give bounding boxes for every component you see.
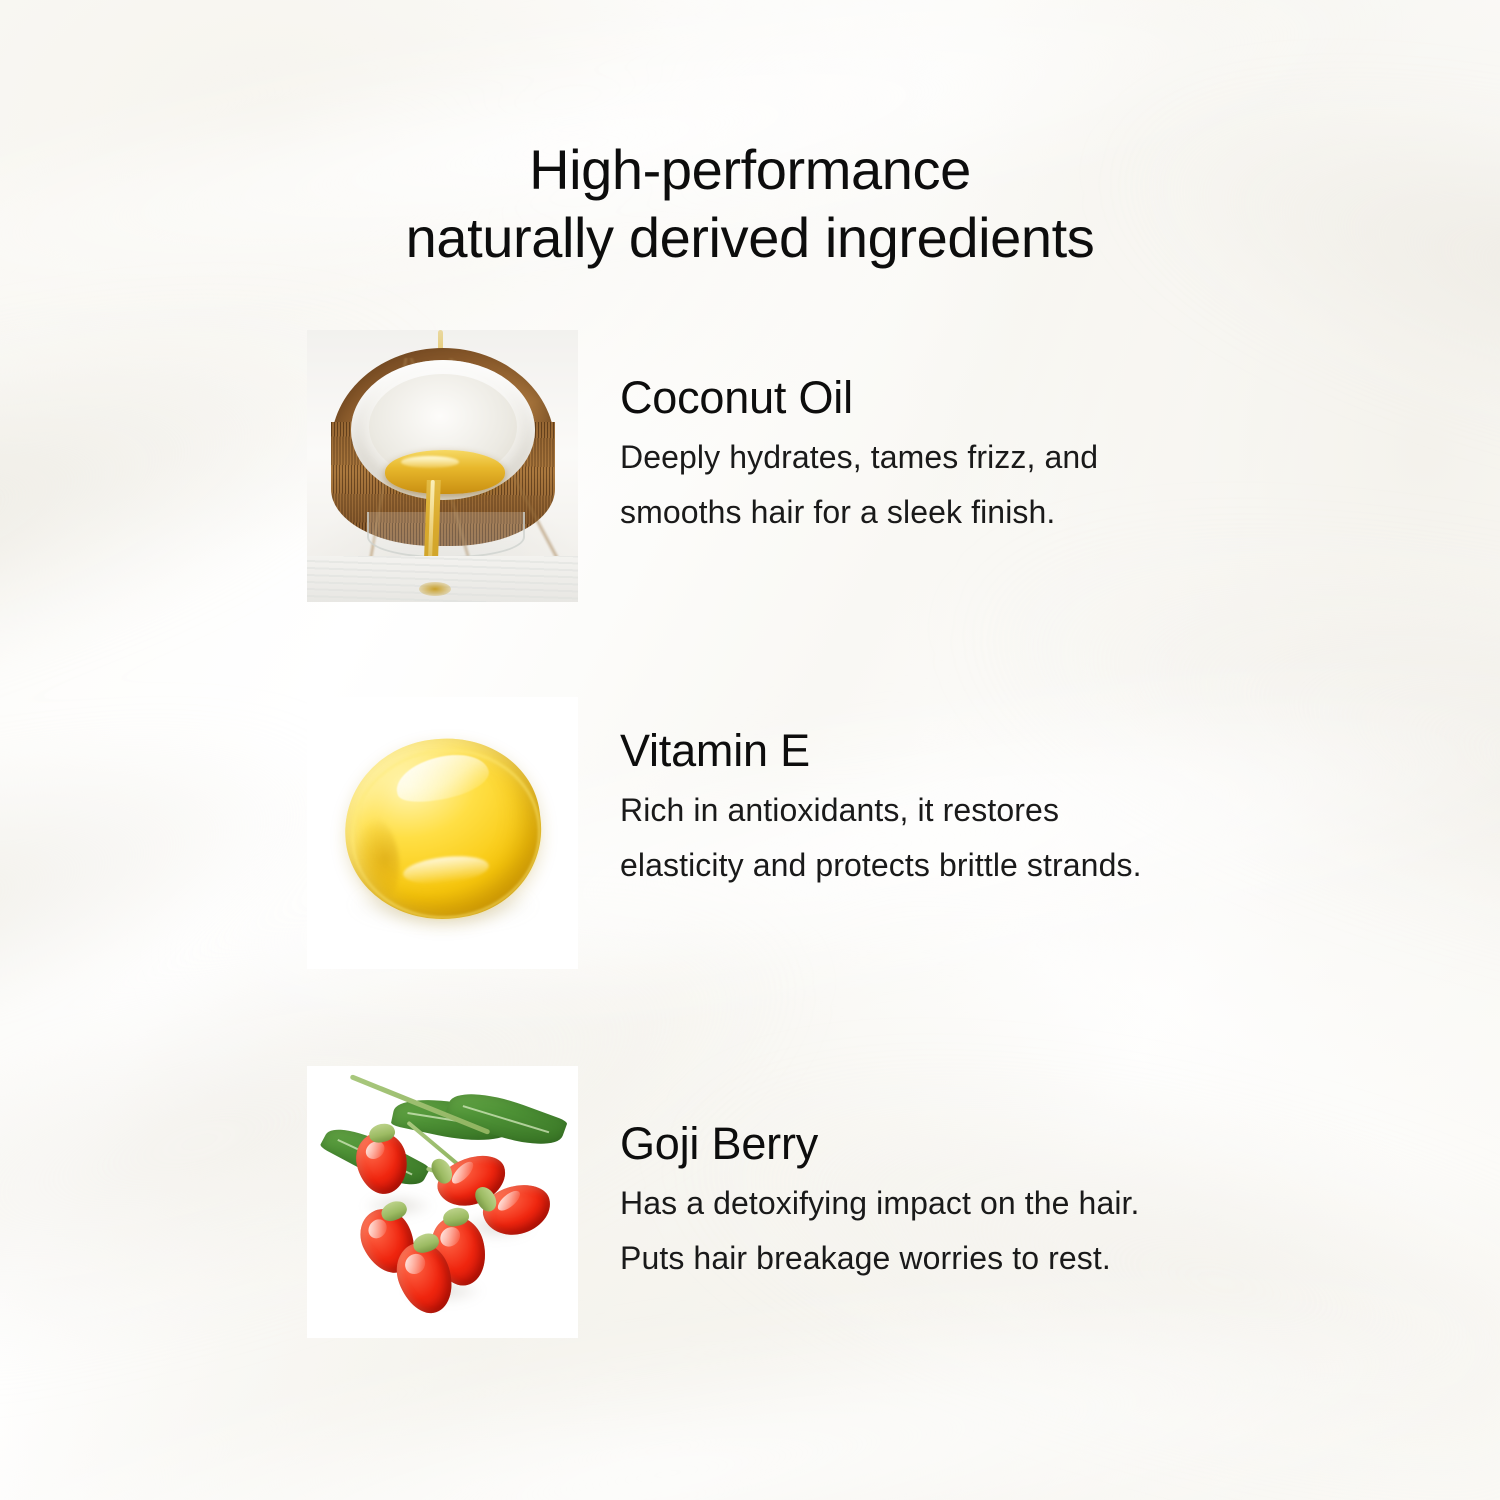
ingredient-copy-goji-berry: Goji Berry Has a detoxifying impact on t…	[620, 1118, 1280, 1286]
ingredient-copy-vitamin-e: Vitamin E Rich in antioxidants, it resto…	[620, 725, 1280, 893]
ingredient-description-coconut-oil: Deeply hydrates, tames frizz, and smooth…	[620, 430, 1280, 540]
ingredient-row-vitamin-e: Vitamin E Rich in antioxidants, it resto…	[307, 697, 1307, 972]
ingredient-name-coconut-oil: Coconut Oil	[620, 372, 1280, 424]
coconut-oil-pool-highlight	[401, 456, 459, 468]
glass-vessel	[367, 512, 525, 558]
goji-berry-illustration	[307, 1066, 578, 1338]
infographic-canvas: High-performance naturally derived ingre…	[0, 0, 1500, 1500]
ingredient-row-goji-berry: Goji Berry Has a detoxifying impact on t…	[307, 1066, 1307, 1341]
ingredient-description-goji-berry: Has a detoxifying impact on the hair. Pu…	[620, 1176, 1280, 1286]
coconut-oil-illustration	[307, 330, 578, 602]
oil-splash	[419, 582, 451, 596]
vitamin-e-capsule-illustration	[307, 697, 578, 969]
ingredient-name-vitamin-e: Vitamin E	[620, 725, 1280, 777]
ingredient-name-goji-berry: Goji Berry	[620, 1118, 1280, 1170]
page-title-line-2: naturally derived ingredients	[0, 204, 1500, 272]
ingredient-image-coconut-oil	[307, 330, 578, 602]
ingredient-copy-coconut-oil: Coconut Oil Deeply hydrates, tames frizz…	[620, 372, 1280, 540]
ingredient-image-vitamin-e	[307, 697, 578, 969]
page-title-line-1: High-performance	[0, 136, 1500, 204]
ingredient-row-coconut-oil: Coconut Oil Deeply hydrates, tames frizz…	[307, 330, 1307, 605]
ingredient-image-goji-berry	[307, 1066, 578, 1338]
ingredient-description-vitamin-e: Rich in antioxidants, it restores elasti…	[620, 783, 1280, 893]
page-title: High-performance naturally derived ingre…	[0, 136, 1500, 272]
